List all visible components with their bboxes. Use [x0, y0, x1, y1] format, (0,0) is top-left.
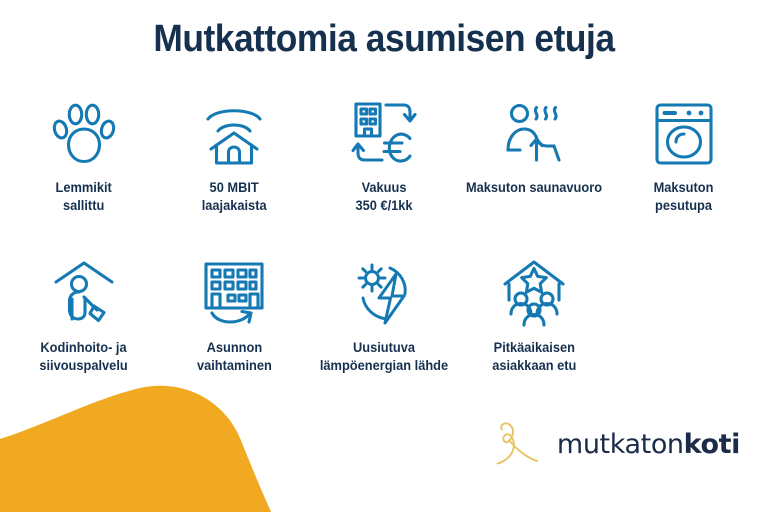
brand-logo[interactable]: mutkatonkoti [493, 418, 740, 470]
benefit-label: Pitkäaikaisen asiakkaan etu [492, 339, 576, 375]
benefit-item-broadband[interactable]: 50 MBIT laajakaista [159, 98, 309, 215]
benefit-label: 50 MBIT laajakaista [202, 179, 267, 215]
sauna-person-steam-icon [498, 98, 570, 170]
benefit-item-pets-allowed[interactable]: Lemmikit sallittu [9, 98, 159, 215]
washing-machine-icon [648, 98, 720, 170]
brand-name-light: mutkaton [557, 429, 684, 460]
building-euro-exchange-icon [348, 98, 420, 170]
sun-lightning-renewable-icon [348, 258, 420, 330]
house-star-people-icon [498, 258, 570, 330]
benefit-label: Vakuus 350 €/1kk [355, 179, 412, 215]
benefit-label: Maksuton saunavuoro [453, 179, 615, 197]
benefit-item-deposit[interactable]: Vakuus 350 €/1kk [309, 98, 459, 215]
brand-name-bold: koti [684, 429, 740, 460]
benefit-item-sauna[interactable]: Maksuton saunavuoro [459, 98, 609, 197]
benefit-label: Uusiutuva lämpöenergian lähde [303, 339, 465, 375]
benefit-item-cleaning-service[interactable]: Kodinhoito- ja siivouspalvelu [9, 258, 159, 375]
decorative-yellow-blob [0, 372, 300, 512]
benefit-label: Maksuton pesutupa [654, 179, 714, 215]
benefit-label: Asunnon vaihtaminen [197, 339, 272, 375]
apartment-swap-icon [198, 258, 270, 330]
benefit-item-renewable-heat[interactable]: Uusiutuva lämpöenergian lähde [309, 258, 459, 375]
benefit-label: Lemmikit sallittu [56, 179, 112, 215]
heart-swoosh-icon [493, 418, 551, 470]
infographic-canvas: Mutkattomia asumisen etuja Lemmikit sall… [0, 0, 768, 512]
page-title: Mutkattomia asumisen etuja [27, 18, 741, 61]
benefit-item-apartment-swap[interactable]: Asunnon vaihtaminen [159, 258, 309, 375]
benefit-item-loyal-customer[interactable]: Pitkäaikaisen asiakkaan etu [459, 258, 609, 375]
house-wifi-icon [198, 98, 270, 170]
benefits-row-2: Kodinhoito- ja siivouspalvelu [0, 258, 768, 375]
benefit-item-laundry[interactable]: Maksuton pesutupa [609, 98, 759, 215]
benefits-row-1: Lemmikit sallittu 50 MBIT laajakaista [0, 98, 768, 215]
benefit-label: Kodinhoito- ja siivouspalvelu [40, 339, 128, 375]
paw-print-icon [48, 98, 120, 170]
cleaning-person-roof-icon [48, 258, 120, 330]
brand-wordmark: mutkatonkoti [557, 429, 740, 460]
